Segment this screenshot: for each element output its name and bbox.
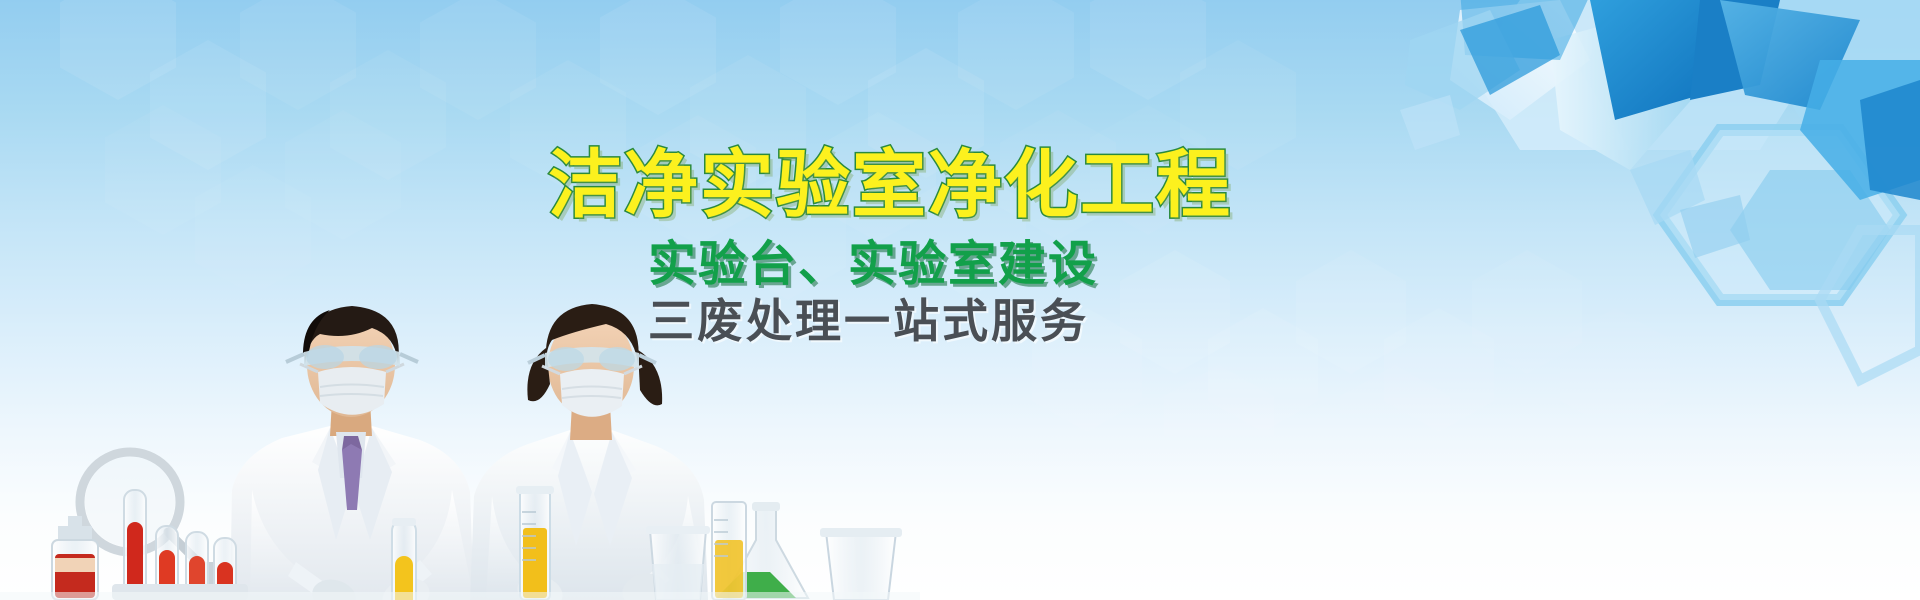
beaker-large-clear <box>820 528 902 600</box>
beaker-clear <box>646 526 710 600</box>
test-tube-yellow-left <box>392 518 416 600</box>
graduated-cylinder-yellow <box>516 486 554 600</box>
bottle-red-liquid <box>52 516 98 600</box>
banner-headline: 洁净实验室净化工程 <box>548 148 1232 222</box>
promo-banner: 洁净实验室净化工程 实验台、实验室建设 三废处理一站式服务 <box>0 0 1920 600</box>
male-scientist <box>230 306 474 600</box>
graduated-cylinder-yellow-bench <box>712 502 746 600</box>
lab-scientists-photo <box>0 240 920 600</box>
